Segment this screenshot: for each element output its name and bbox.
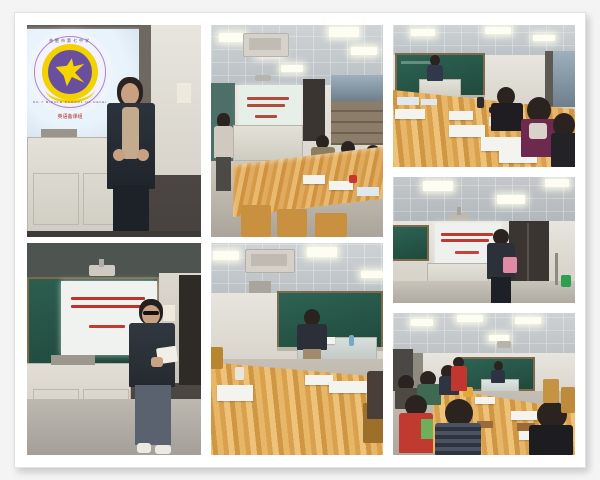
photo-tile-teachers-reviewing-documents-at-table[interactable] [393,25,575,167]
photo-tile-classroom-audience-rear-view[interactable] [393,313,575,455]
photo-tile-presenter-holding-document-near-screen[interactable] [393,177,575,303]
person-standing-left [213,113,235,191]
person-male-presenter [129,299,177,455]
person-audience-4 [399,395,433,453]
crest-bottom-text: NO.7 MIDDLE SCHOOL OF HEFEI [33,100,107,104]
person-side-attendee [367,371,383,419]
slide-subtitle-line [89,325,125,328]
person-speaker [427,55,443,81]
crest-top-text: 合肥市第七中学 [49,38,91,44]
person-audience-red [451,357,467,391]
person-presenter-with-document [485,229,517,303]
photo-tile-presenter-at-chalkboard-over-wooden-table[interactable] [211,243,383,455]
person-front-speaker [491,361,505,383]
school-crest-graphic: 合肥市第七中学 NO.7 MIDDLE SCHOOL OF HEFEI 英语备课… [31,33,109,111]
person-attendee-1 [491,87,523,131]
person-attendee-3 [551,113,575,167]
person-presenter [105,77,159,237]
collage-card: 合肥市第七中学 NO.7 MIDDLE SCHOOL OF HEFEI 英语备课… [14,12,586,468]
photo-tile-teacher-presenting-with-school-logo-slide[interactable]: 合肥市第七中学 NO.7 MIDDLE SCHOOL OF HEFEI 英语备课… [27,25,201,237]
photo-captions-list: Female teacher presenting at podium in f… [0,0,1,1]
page-root: 合肥市第七中学 NO.7 MIDDLE SCHOOL OF HEFEI 英语备课… [0,0,600,480]
person-front-presenter [297,309,327,363]
photo-tile-seminar-room-with-presenter-and-seated-teachers[interactable] [211,25,383,237]
person-audience-5 [435,399,481,455]
crest-subtitle: 英语备课组 [57,113,82,120]
photo-tile-male-teacher-presenting-titled-slide[interactable] [27,243,201,455]
